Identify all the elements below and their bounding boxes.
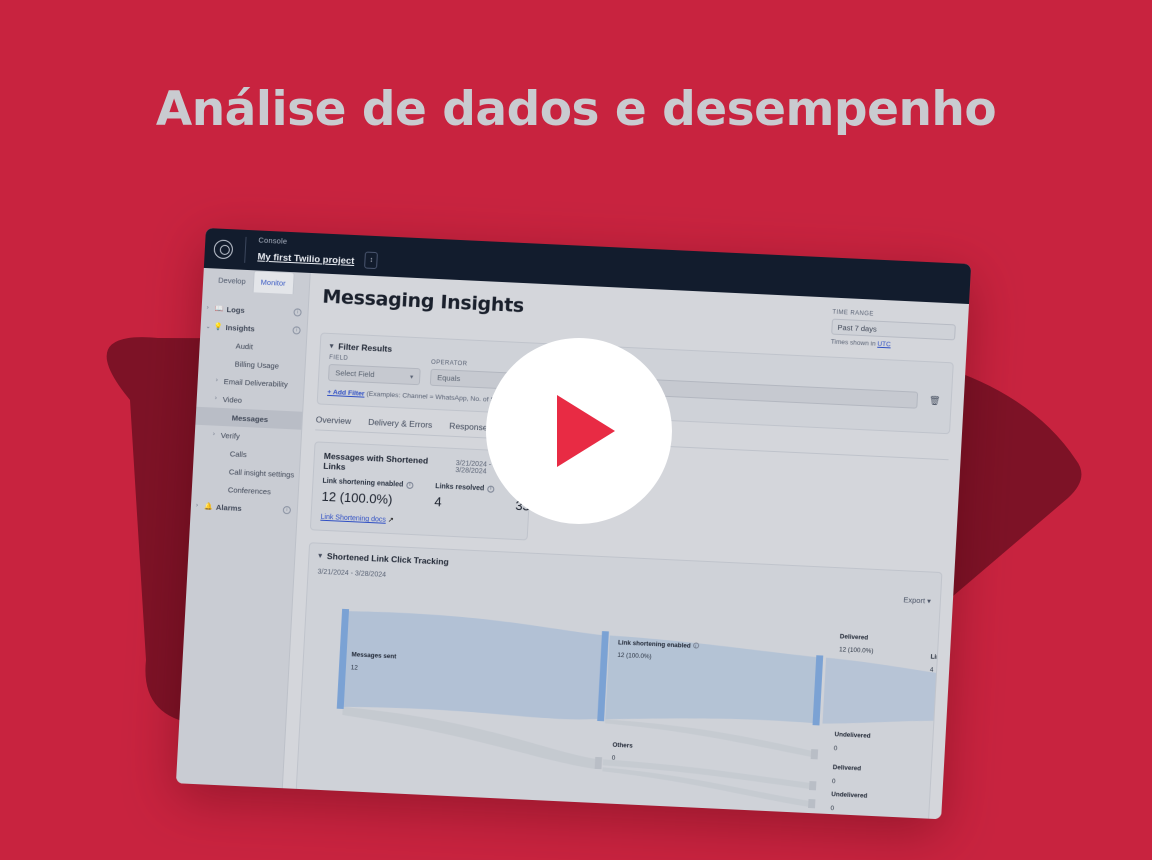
trash-icon[interactable]: 🗑 <box>927 392 942 410</box>
timezone-note: Times shown in UTC <box>831 339 955 352</box>
chevron-down-icon: ▾ <box>410 372 414 380</box>
info-icon[interactable]: i <box>406 482 413 489</box>
export-dropdown[interactable]: Export ▾ <box>903 595 931 605</box>
sankey-node-value: 12 <box>351 664 358 671</box>
field-group: FIELD Select Field ▾ <box>328 355 421 385</box>
sidebar-item-alarms[interactable]: ›🔔Alarmsi <box>190 497 297 520</box>
link-shortening-docs-link[interactable]: Link Shortening docs <box>320 514 386 524</box>
sankey-node-value: 0 <box>834 745 838 752</box>
play-triangle-icon <box>557 395 615 467</box>
sidebar-item-label: Conferences <box>228 485 292 497</box>
utc-link[interactable]: UTC <box>877 341 891 349</box>
tab-delivery-errors[interactable]: Delivery & Errors <box>368 417 433 430</box>
topbar-divider <box>244 237 246 263</box>
sidebar-item-label: Messages <box>232 413 296 425</box>
sidebar-item-label: Insights <box>225 323 292 335</box>
sankey-date-range: 3/21/2024 - 3/28/2024 <box>317 569 386 579</box>
play-video-button[interactable] <box>486 338 672 524</box>
external-link-icon: ↗ <box>388 517 394 524</box>
selector-updown-icon[interactable]: ↕ <box>364 251 378 269</box>
sankey-node-value: 0 <box>612 755 616 762</box>
tab-label: Overview <box>316 414 352 426</box>
field-select[interactable]: Select Field ▾ <box>328 364 421 385</box>
info-icon[interactable]: i <box>292 326 300 334</box>
tab-label: Delivery & Errors <box>368 417 433 430</box>
tab-develop[interactable]: Develop <box>211 268 254 292</box>
metric-links-resolved: Links resolvedi4 <box>434 483 494 512</box>
sankey-node-label-text: Delivered <box>833 765 862 773</box>
metric-link-shortening-enabled: Link shortening enabledi12 (100.0%) <box>321 478 413 508</box>
docs-row: Link Shortening docs ↗ <box>320 513 518 530</box>
sankey-diagram: Messages sent12Link shortening enabledi1… <box>297 587 939 819</box>
time-range-control: TIME RANGE Past 7 days Times shown in UT… <box>831 310 957 352</box>
sankey-node-label: Delivered <box>833 765 862 773</box>
sidebar-item-label: Calls <box>230 449 294 461</box>
poster-canvas: Análise de dados e desempenho Console My… <box>0 0 1152 860</box>
sankey-node-value: 4 <box>930 667 934 674</box>
product-screenshot: Console My first Twilio project ↕ Develo… <box>176 228 971 823</box>
sidebar-item-label: Email Deliverability <box>224 377 298 389</box>
sidebar-item-label: Logs <box>226 305 293 317</box>
info-icon[interactable]: i <box>293 308 301 316</box>
sankey-node-label: Delivered <box>840 633 869 641</box>
filter-results-title: Filter Results <box>338 341 392 354</box>
chevron-down-icon[interactable]: ▾ <box>318 552 322 560</box>
sidebar-item-label: Call insight settings <box>229 467 295 479</box>
project-name[interactable]: My first Twilio project <box>257 251 354 267</box>
field-select-value: Select Field <box>335 368 375 379</box>
metric-label: Link shortening enabledi <box>322 478 413 489</box>
book-icon: 📖 <box>214 305 226 314</box>
sankey-node-value: 0 <box>830 805 834 812</box>
time-range-select[interactable]: Past 7 days <box>831 319 956 341</box>
chevron-down-icon: ▾ <box>927 596 931 605</box>
summary-metrics: Link shortening enabledi12 (100.0%)Links… <box>321 478 520 513</box>
sankey-node-label-text: Delivered <box>840 633 869 641</box>
bulb-icon: 💡 <box>213 322 225 331</box>
timezone-note-text: Times shown in <box>831 339 878 348</box>
shortened-link-click-tracking-card: ▾ Shortened Link Click Tracking 3/21/202… <box>296 542 943 819</box>
sidebar-item-label: Billing Usage <box>234 359 298 371</box>
sidebar-item-label: Alarms <box>216 502 283 514</box>
metric-label-text: Links resolved <box>435 483 484 492</box>
sidebar-item-label: Video <box>223 394 297 406</box>
chevron-down-icon[interactable]: ▾ <box>330 342 334 350</box>
console-kicker: Console <box>258 236 379 251</box>
metric-value: 12 (100.0%) <box>321 489 413 508</box>
project-selector[interactable]: Console My first Twilio project ↕ <box>257 236 379 271</box>
metric-label: Links resolvedi <box>435 483 494 493</box>
twilio-logo-icon[interactable] <box>213 239 233 259</box>
bell-icon: 🔔 <box>204 502 216 511</box>
metric-label-text: Link shortening enabled <box>322 478 403 489</box>
page-title: Análise de dados e desempenho <box>0 82 1152 137</box>
sidebar-item-label: Audit <box>235 341 299 353</box>
add-filter-link[interactable]: + Add Filter <box>327 389 365 398</box>
info-icon[interactable]: i <box>693 642 699 648</box>
sankey-node-label-text: Others <box>612 742 633 750</box>
messaging-insights-title: Messaging Insights <box>322 286 525 317</box>
summary-title: Messages with Shortened Links <box>323 451 448 477</box>
export-label: Export <box>903 595 925 605</box>
sankey-node-label: Others <box>612 742 633 750</box>
operator-select-value: Equals <box>437 373 460 383</box>
sidebar-item-label: Verify <box>221 430 295 442</box>
info-icon[interactable]: i <box>487 486 494 493</box>
sankey-node-value: 0 <box>832 778 836 785</box>
sidebar-nav-list: ›📖Logsi⌄💡InsightsiAuditBilling Usage›Ema… <box>190 290 308 520</box>
tab-overview[interactable]: Overview <box>316 414 352 426</box>
metric-value: 4 <box>434 494 494 512</box>
info-icon[interactable]: i <box>283 506 291 514</box>
tab-monitor[interactable]: Monitor <box>252 270 294 294</box>
